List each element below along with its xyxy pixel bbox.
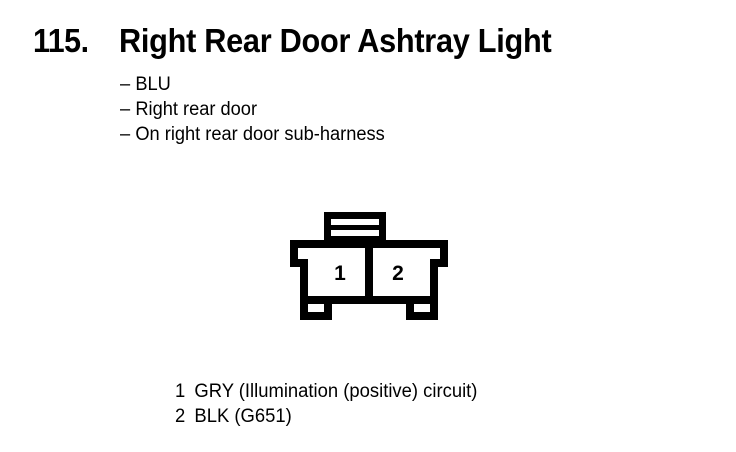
dash-bullet-icon: – <box>120 97 135 122</box>
connector-pin-divider <box>365 248 373 296</box>
connector-pin-number-2: 2 <box>392 262 404 285</box>
pin-legend: 1 GRY (Illumination (positive) circuit) … <box>175 379 487 429</box>
pin-legend-row: 1 GRY (Illumination (positive) circuit) <box>175 379 477 404</box>
descriptor-item-wire-color: – BLU <box>120 72 385 97</box>
descriptor-label: Right rear door <box>135 97 257 122</box>
pin-legend-description: BLK (G651) <box>194 404 291 429</box>
page-canvas: 115. Right Rear Door Ashtray Light – BLU… <box>0 0 736 452</box>
descriptor-item-harness: – On right rear door sub-harness <box>120 122 385 147</box>
connector-locking-tab-icon <box>324 212 386 242</box>
descriptor-label: On right rear door sub-harness <box>135 122 384 147</box>
connector-pin-number-1: 1 <box>334 262 346 285</box>
page-title: 115. Right Rear Door Ashtray Light <box>33 22 584 60</box>
descriptor-item-location: – Right rear door <box>120 97 385 122</box>
connector-outline-icon: 1 2 <box>286 212 452 324</box>
pin-legend-row: 2 BLK (G651) <box>175 404 477 429</box>
connector-diagram: 1 2 <box>286 212 452 324</box>
descriptor-label: BLU <box>135 72 170 97</box>
page-title-text: Right Rear Door Ashtray Light <box>119 22 551 60</box>
page-title-number: 115. <box>33 22 89 60</box>
pin-legend-number: 2 <box>175 404 194 429</box>
dash-bullet-icon: – <box>120 72 135 97</box>
pin-legend-number: 1 <box>175 379 194 404</box>
pin-legend-description: GRY (Illumination (positive) circuit) <box>194 379 477 404</box>
descriptor-list: – BLU – Right rear door – On right rear … <box>120 72 396 147</box>
dash-bullet-icon: – <box>120 122 135 147</box>
